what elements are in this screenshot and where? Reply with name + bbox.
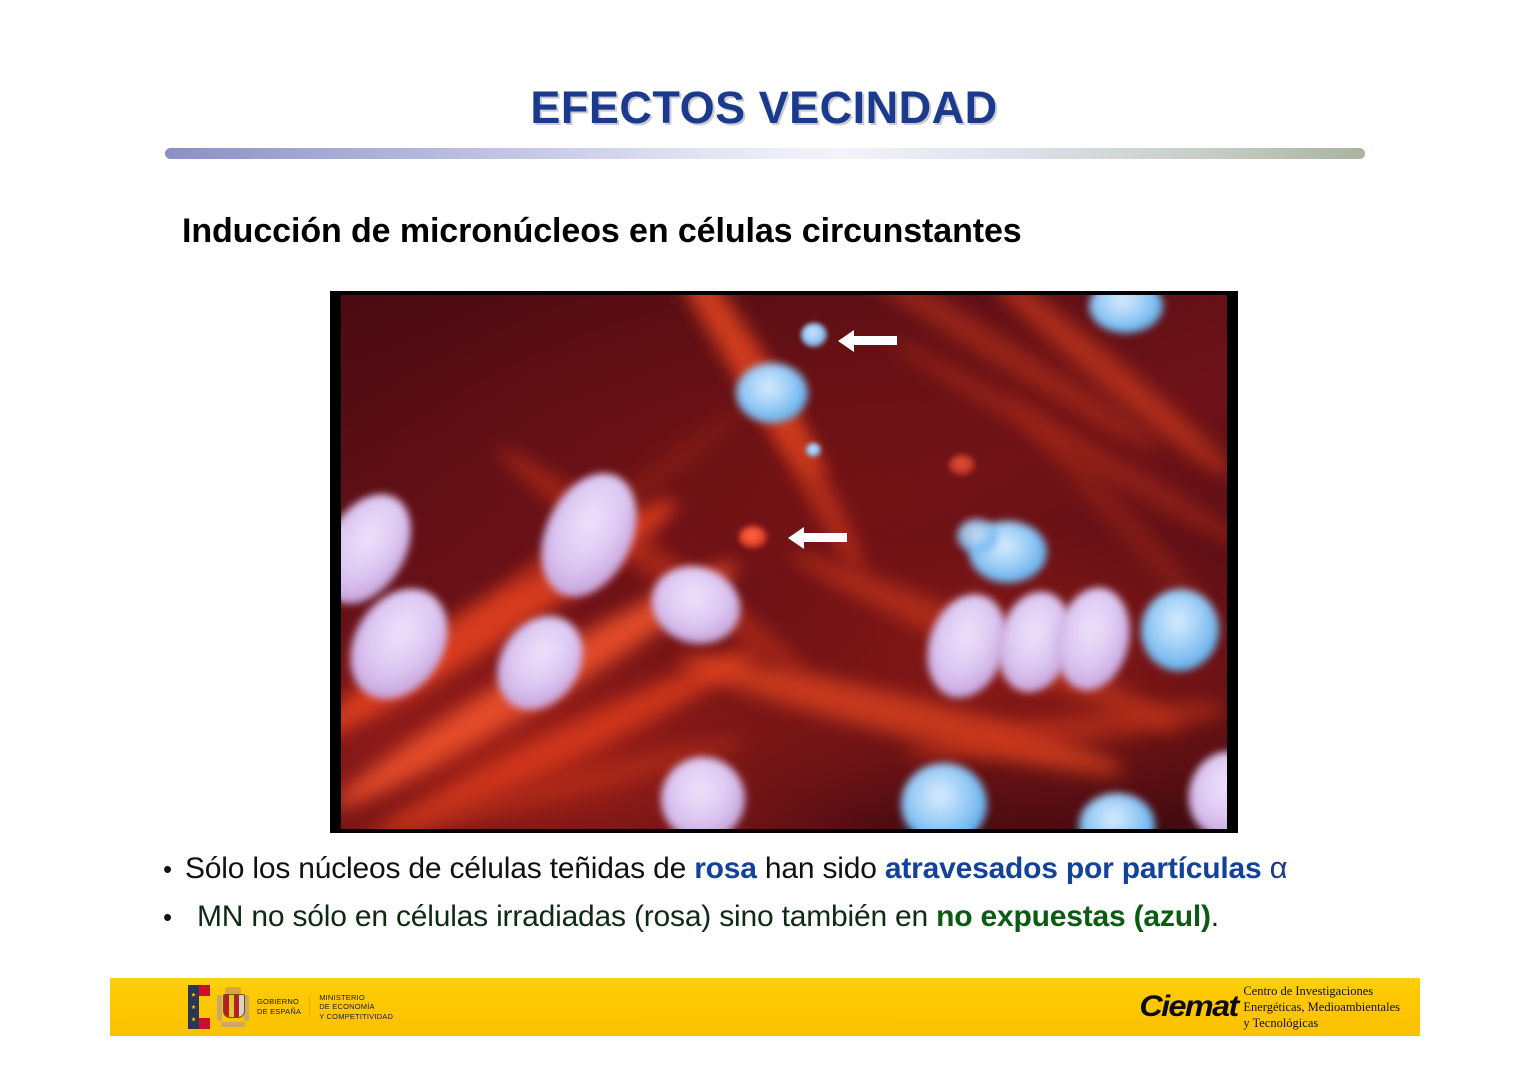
gobierno-line-1: GOBIERNO [257, 997, 301, 1007]
bullet-1-highlight-atravesados: atravesados por partículas [885, 852, 1270, 885]
ciemat-wordmark: Ciemat [1140, 990, 1238, 1024]
ciemat-logo: Ciemat Centro de Investigaciones Energét… [1143, 984, 1400, 1030]
bullet-marker: • [163, 856, 185, 882]
slide-subtitle: Inducción de micronúcleos en células cir… [182, 212, 1022, 251]
bullet-1-highlight-rosa: rosa [694, 852, 757, 885]
gobierno-label: GOBIERNO DE ESPAÑA [257, 997, 310, 1016]
bullet-1-part-plain: Sólo los núcleos de células teñidas de [185, 852, 694, 885]
bullet-item-2: • MN no sólo en células irradiadas (rosa… [163, 900, 1423, 934]
title-divider-bar [165, 148, 1365, 159]
gobierno-de-espana-logo: GOBIERNO DE ESPAÑA MINISTERIO DE ECONOMÍ… [188, 983, 393, 1031]
bullet-list: • Sólo los núcleos de células teñidas de… [163, 850, 1423, 934]
spain-coat-of-arms-icon [216, 985, 250, 1029]
alpha-symbol: α [1270, 850, 1288, 885]
page-title: EFECTOS VECINDAD [0, 82, 1528, 134]
nucleus-blue [1089, 295, 1163, 333]
micronucleus-small [806, 443, 821, 457]
ciemat-line-3: y Tecnológicas [1243, 1015, 1400, 1031]
bullet-2-highlight-no-expuestas: no expuestas (azul) [936, 900, 1211, 933]
bullet-1-text: Sólo los núcleos de células teñidas de r… [185, 850, 1287, 886]
micronucleus-central [739, 526, 767, 548]
ciemat-subtitle: Centro de Investigaciones Energéticas, M… [1243, 983, 1400, 1032]
micronucleus-upper [801, 323, 827, 347]
micrograph-frame [330, 291, 1238, 833]
bullet-1-part-plain-2: han sido [757, 852, 885, 885]
spain-flag-icon [188, 985, 210, 1029]
bullet-marker: • [163, 904, 197, 930]
bullet-2-text: MN no sólo en células irradiadas (rosa) … [197, 900, 1219, 934]
nucleus-blue [736, 363, 808, 423]
ministerio-line-3: Y COMPETITIVIDAD [319, 1012, 393, 1022]
nucleus-blue [1134, 583, 1225, 677]
ministerio-line-2: DE ECONOMÍA [319, 1002, 393, 1012]
bullet-2-part-period: . [1211, 900, 1219, 933]
annotation-arrow-central [803, 533, 847, 542]
bullet-item-1: • Sólo los núcleos de células teñidas de… [163, 850, 1423, 886]
stars-band-icon [188, 985, 199, 1029]
cytoplasm-blob [949, 455, 975, 475]
nucleus-blue [957, 519, 997, 553]
ciemat-line-1: Centro de Investigaciones [1243, 983, 1400, 999]
nucleus-pink [1179, 742, 1227, 829]
ministerio-label: MINISTERIO DE ECONOMÍA Y COMPETITIVIDAD [319, 993, 393, 1022]
nucleus-blue [1079, 793, 1155, 829]
annotation-arrow-upper [853, 336, 897, 345]
ministerio-line-1: MINISTERIO [319, 993, 393, 1003]
bullet-2-part-plain: MN no sólo en células irradiadas (rosa) … [197, 900, 936, 933]
ciemat-line-2: Energéticas, Medioambientales [1243, 999, 1400, 1015]
nucleus-blue [901, 763, 987, 829]
footer-bar: GOBIERNO DE ESPAÑA MINISTERIO DE ECONOMÍ… [110, 978, 1420, 1036]
fluorescence-micrograph [341, 295, 1227, 829]
gobierno-line-2: DE ESPAÑA [257, 1007, 301, 1017]
